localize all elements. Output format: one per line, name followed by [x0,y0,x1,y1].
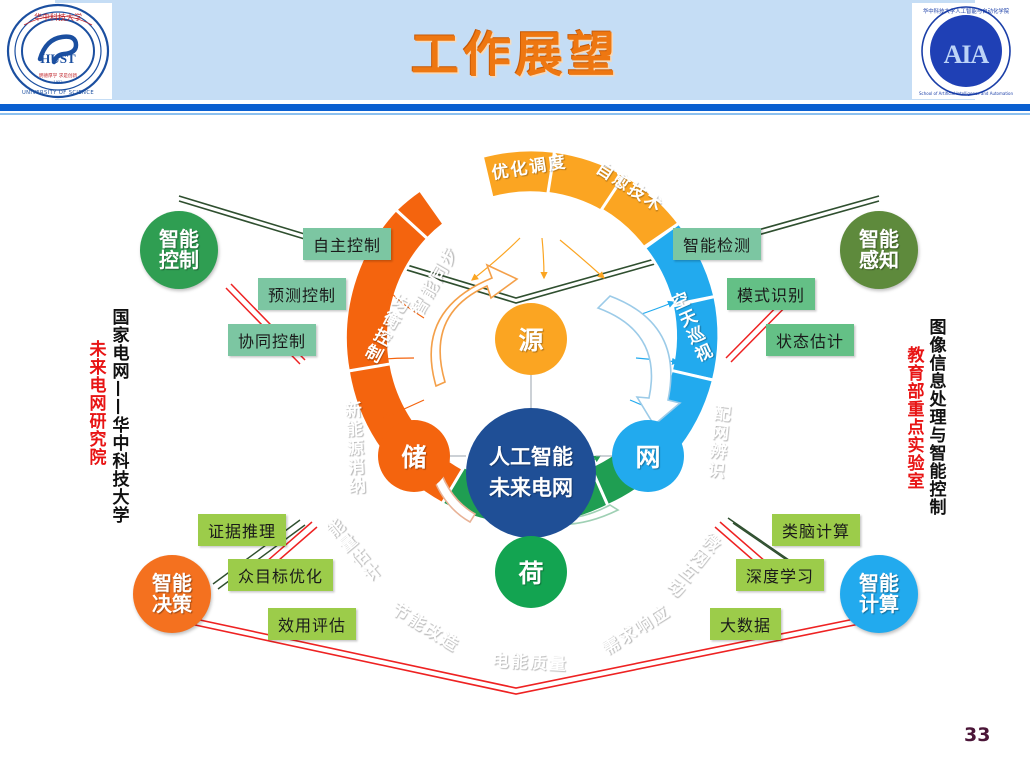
center-hub-line1: 人工智能 [489,442,573,474]
hub-grid[interactable]: 网 [612,420,684,492]
hub-source[interactable]: 源 [495,303,567,375]
tag-control-0[interactable]: 自主控制 [303,228,391,260]
header-divider-thick [0,104,1030,111]
corner-computing-line2: 计算 [859,594,899,615]
caption-right-red: 教育部重点实验室 [903,346,923,490]
svg-text:AIA: AIA [944,40,990,69]
tag-sensing-0[interactable]: 智能检测 [673,228,761,260]
corner-decision-line1: 智能 [152,573,192,594]
caption-right-black: 图像信息处理与智能控制 [925,318,945,516]
aia-school-logo: AIA 华中科技大学人工智能与自动化学院 School of Artificia… [912,3,1020,99]
tag-control-1[interactable]: 预测控制 [258,278,346,310]
tag-computing-1[interactable]: 深度学习 [736,559,824,591]
corner-computing-line1: 智能 [859,573,899,594]
corner-control-line2: 控制 [159,250,199,271]
hub-load[interactable]: 荷 [495,536,567,608]
diagram-canvas: 智能同步 优化调度 自愈技术 空天巡视 配网辨识 微网互动 需求响应 电能质量 … [0,118,1030,771]
corner-bubble-decision[interactable]: 智能 决策 [133,555,211,633]
header-divider-thin [0,113,1030,115]
caption-left-black: 国家电网——华中科技大学 [108,308,128,524]
tag-sensing-1[interactable]: 模式识别 [727,278,815,310]
corner-sensing-line2: 感知 [859,250,899,271]
center-hub-line2: 未来电网 [489,473,573,505]
tag-computing-0[interactable]: 类脑计算 [772,514,860,546]
svg-text:School of Artificial Intellige: School of Artificial Intelligence and Au… [919,91,1014,96]
slide: HUST 华中科技大学 明德厚学 求是创新 1952 UNIVERSITY OF… [0,0,1030,771]
page-number: 33 [964,724,990,746]
corner-sensing-line1: 智能 [859,229,899,250]
center-hub[interactable]: 人工智能 未来电网 [466,408,596,538]
tag-decision-0[interactable]: 证据推理 [198,514,286,546]
tag-computing-2[interactable]: 大数据 [710,608,781,640]
tag-decision-2[interactable]: 效用评估 [268,608,356,640]
corner-control-line1: 智能 [159,229,199,250]
corner-bubble-control[interactable]: 智能 控制 [140,211,218,289]
caption-left-red: 未来电网研究院 [85,340,105,466]
hub-storage[interactable]: 储 [378,420,450,492]
corner-bubble-sensing[interactable]: 智能 感知 [840,211,918,289]
page-title: 工作展望 [0,0,1030,100]
svg-text:华中科技大学人工智能与自动化学院: 华中科技大学人工智能与自动化学院 [923,7,1010,15]
corner-decision-line2: 决策 [152,594,192,615]
tag-control-2[interactable]: 协同控制 [228,324,316,356]
tag-sensing-2[interactable]: 状态估计 [766,324,854,356]
tag-decision-1[interactable]: 众目标优化 [228,559,333,591]
ring-seg-zhinengtongbu [482,150,554,198]
ring-seg-peiwangbianshi [671,297,719,381]
corner-bubble-computing[interactable]: 智能 计算 [840,555,918,633]
